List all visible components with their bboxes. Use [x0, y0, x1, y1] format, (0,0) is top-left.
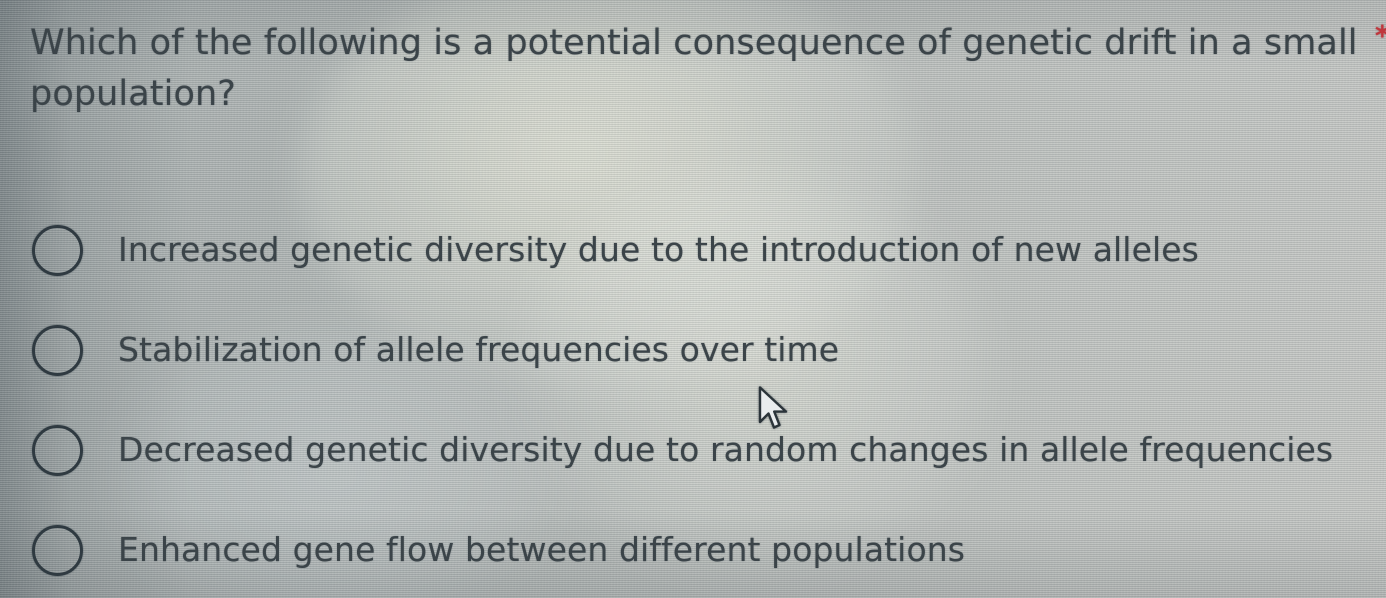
question-form: Which of the following is a potential co… — [0, 0, 1386, 598]
question-block: Which of the following is a potential co… — [30, 18, 1370, 120]
radio-button-icon-1[interactable] — [32, 225, 83, 276]
quiz-question-screen: Which of the following is a potential co… — [0, 0, 1386, 598]
answer-option-4[interactable]: Enhanced gene flow between different pop… — [0, 500, 1386, 598]
answer-option-2[interactable]: Stabilization of allele frequencies over… — [0, 300, 1386, 400]
radio-button-icon-3[interactable] — [32, 425, 83, 476]
required-asterisk-marker: * — [1375, 22, 1386, 50]
answer-options-list: Increased genetic diversity due to the i… — [0, 200, 1386, 598]
question-text: Which of the following is a potential co… — [30, 18, 1370, 120]
radio-button-icon-2[interactable] — [32, 325, 83, 376]
answer-option-1[interactable]: Increased genetic diversity due to the i… — [0, 200, 1386, 300]
answer-option-label-4: Enhanced gene flow between different pop… — [118, 530, 965, 570]
answer-option-label-3: Decreased genetic diversity due to rando… — [118, 430, 1333, 470]
answer-option-label-2: Stabilization of allele frequencies over… — [118, 330, 839, 370]
radio-button-icon-4[interactable] — [32, 525, 83, 576]
answer-option-3[interactable]: Decreased genetic diversity due to rando… — [0, 400, 1386, 500]
answer-option-label-1: Increased genetic diversity due to the i… — [118, 230, 1199, 270]
